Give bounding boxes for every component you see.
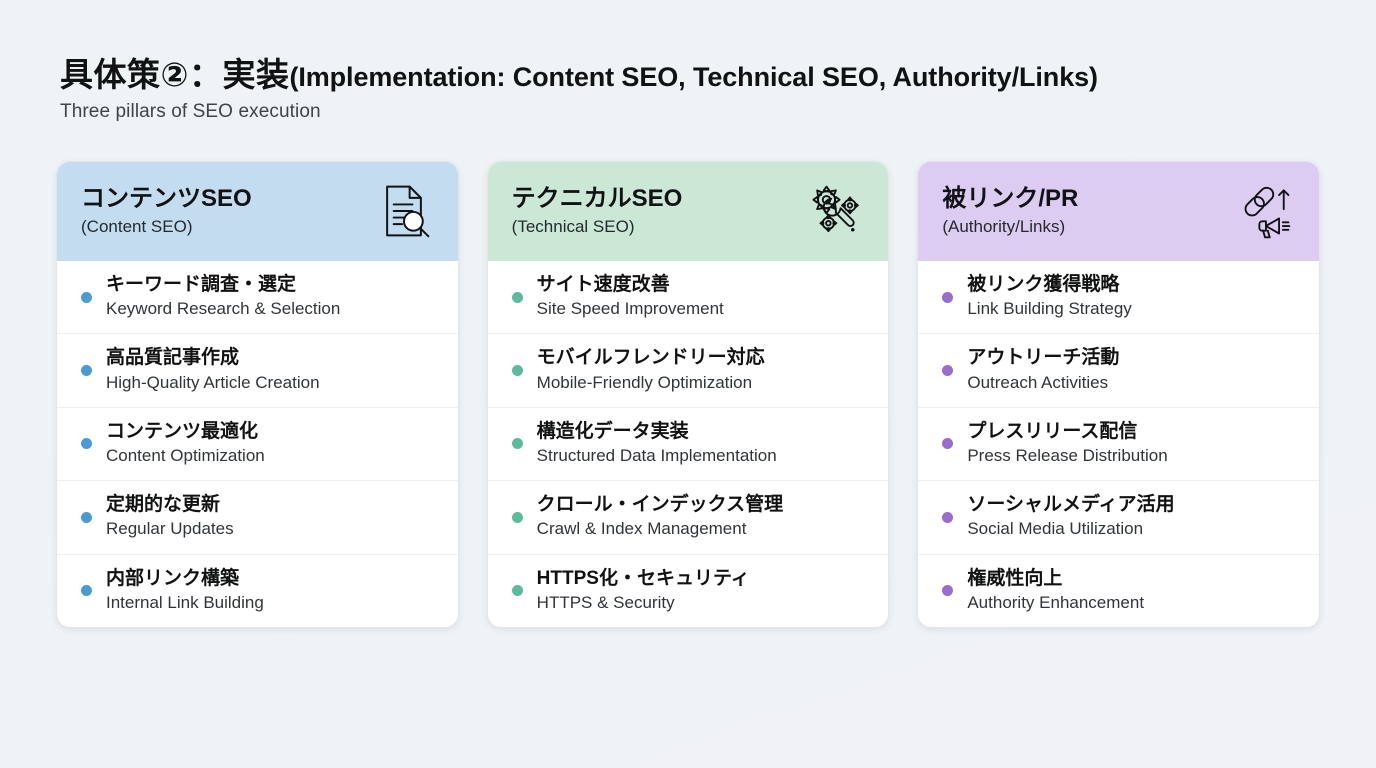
list-item-en: Crawl & Index Management (537, 518, 783, 540)
list-item-jp: サイト速度改善 (537, 274, 670, 295)
list-item-en: HTTPS & Security (537, 592, 750, 614)
card-content-seo: コンテンツSEO (Content SEO) (56, 161, 459, 628)
slide-header: 具体策②：実装(Implementation: Content SEO, Tec… (60, 56, 1320, 123)
card-header-authority-links: 被リンク/PR (Authority/Links) (918, 162, 1319, 261)
list-item-en: Internal Link Building (106, 592, 264, 614)
list-item-jp: 被リンク獲得戦略 (967, 274, 1119, 295)
list-item-jp: 権威性向上 (967, 568, 1062, 589)
page-title: 具体策②：実装(Implementation: Content SEO, Tec… (60, 56, 1320, 95)
bullet-icon (81, 292, 92, 303)
bullet-icon (81, 585, 92, 596)
list-item-text: アウトリーチ活動 Outreach Activities (967, 346, 1119, 393)
bullet-icon (81, 512, 92, 523)
list-item-jp: 内部リンク構築 (106, 568, 239, 589)
bullet-icon (81, 365, 92, 376)
document-search-icon (372, 179, 436, 243)
card-list-technical-seo: サイト速度改善 Site Speed Improvement モバイルフレンドリ… (488, 261, 889, 627)
bullet-icon (512, 292, 523, 303)
bullet-icon (942, 438, 953, 449)
list-item-en: Press Release Distribution (967, 445, 1167, 467)
list-item-text: ソーシャルメディア活用 Social Media Utilization (967, 493, 1174, 540)
list-item-en: Content Optimization (106, 445, 265, 467)
list-item-text: 高品質記事作成 High-Quality Article Creation (106, 346, 320, 393)
list-item-en: Keyword Research & Selection (106, 298, 340, 320)
list-item-text: キーワード調査・選定 Keyword Research & Selection (106, 273, 340, 320)
list-item-en: Link Building Strategy (967, 298, 1131, 320)
card-header-text: 被リンク/PR (Authority/Links) (942, 184, 1078, 237)
card-title-jp: 被リンク/PR (942, 184, 1078, 213)
list-item[interactable]: 内部リンク構築 Internal Link Building (57, 554, 458, 627)
card-title-en: (Authority/Links) (942, 216, 1078, 238)
list-item-en: Outreach Activities (967, 372, 1119, 394)
list-item-en: Structured Data Implementation (537, 445, 777, 467)
page-title-en: (Implementation: Content SEO, Technical … (289, 62, 1097, 92)
list-item[interactable]: プレスリリース配信 Press Release Distribution (918, 407, 1319, 480)
list-item[interactable]: ソーシャルメディア活用 Social Media Utilization (918, 480, 1319, 553)
list-item-jp: モバイルフレンドリー対応 (537, 347, 765, 368)
card-authority-links: 被リンク/PR (Authority/Links) (917, 161, 1320, 628)
list-item[interactable]: アウトリーチ活動 Outreach Activities (918, 333, 1319, 406)
list-item[interactable]: クロール・インデックス管理 Crawl & Index Management (488, 480, 889, 553)
list-item[interactable]: コンテンツ最適化 Content Optimization (57, 407, 458, 480)
card-list-content-seo: キーワード調査・選定 Keyword Research & Selection … (57, 261, 458, 627)
list-item[interactable]: 構造化データ実装 Structured Data Implementation (488, 407, 889, 480)
gears-wrench-icon (802, 179, 866, 243)
list-item-jp: コンテンツ最適化 (106, 421, 258, 442)
list-item-jp: 高品質記事作成 (106, 347, 239, 368)
page-title-jp: 具体策②：実装 (60, 56, 289, 93)
list-item-text: サイト速度改善 Site Speed Improvement (537, 273, 724, 320)
list-item[interactable]: 高品質記事作成 High-Quality Article Creation (57, 333, 458, 406)
card-title-jp: コンテンツSEO (81, 184, 252, 213)
bullet-icon (942, 585, 953, 596)
card-title-jp: テクニカルSEO (512, 184, 683, 213)
list-item-en: Authority Enhancement (967, 592, 1144, 614)
list-item-text: HTTPS化・セキュリティ HTTPS & Security (537, 567, 750, 614)
card-title-en: (Content SEO) (81, 216, 252, 238)
list-item[interactable]: モバイルフレンドリー対応 Mobile-Friendly Optimizatio… (488, 333, 889, 406)
list-item-jp: 定期的な更新 (106, 494, 220, 515)
card-header-technical-seo: テクニカルSEO (Technical SEO) (488, 162, 889, 261)
card-list-authority-links: 被リンク獲得戦略 Link Building Strategy アウトリーチ活動… (918, 261, 1319, 627)
bullet-icon (942, 292, 953, 303)
list-item-jp: プレスリリース配信 (967, 421, 1137, 442)
list-item-text: 被リンク獲得戦略 Link Building Strategy (967, 273, 1131, 320)
slide-root: 具体策②：実装(Implementation: Content SEO, Tec… (0, 0, 1376, 768)
list-item-en: High-Quality Article Creation (106, 372, 320, 394)
list-item-jp: HTTPS化・セキュリティ (537, 568, 750, 589)
list-item-text: 定期的な更新 Regular Updates (106, 493, 234, 540)
list-item-text: 内部リンク構築 Internal Link Building (106, 567, 264, 614)
list-item-text: コンテンツ最適化 Content Optimization (106, 420, 265, 467)
bullet-icon (81, 438, 92, 449)
list-item-text: クロール・インデックス管理 Crawl & Index Management (537, 493, 783, 540)
list-item-text: 構造化データ実装 Structured Data Implementation (537, 420, 777, 467)
chain-megaphone-icon (1233, 179, 1297, 243)
bullet-icon (512, 438, 523, 449)
list-item-jp: アウトリーチ活動 (967, 347, 1119, 368)
list-item[interactable]: キーワード調査・選定 Keyword Research & Selection (57, 261, 458, 333)
bullet-icon (942, 512, 953, 523)
list-item-jp: ソーシャルメディア活用 (967, 494, 1174, 515)
list-item-en: Mobile-Friendly Optimization (537, 372, 765, 394)
list-item[interactable]: HTTPS化・セキュリティ HTTPS & Security (488, 554, 889, 627)
bullet-icon (512, 585, 523, 596)
bullet-icon (512, 512, 523, 523)
card-header-text: テクニカルSEO (Technical SEO) (512, 184, 683, 237)
list-item-en: Regular Updates (106, 518, 234, 540)
list-item-jp: クロール・インデックス管理 (537, 494, 783, 515)
page-subtitle: Three pillars of SEO execution (60, 101, 1320, 123)
list-item-text: プレスリリース配信 Press Release Distribution (967, 420, 1167, 467)
list-item[interactable]: 権威性向上 Authority Enhancement (918, 554, 1319, 627)
list-item[interactable]: 定期的な更新 Regular Updates (57, 480, 458, 553)
list-item-jp: 構造化データ実装 (537, 421, 689, 442)
list-item-text: モバイルフレンドリー対応 Mobile-Friendly Optimizatio… (537, 346, 765, 393)
card-technical-seo: テクニカルSEO (Technical SEO) (487, 161, 890, 628)
list-item-en: Site Speed Improvement (537, 298, 724, 320)
bullet-icon (942, 365, 953, 376)
list-item[interactable]: サイト速度改善 Site Speed Improvement (488, 261, 889, 333)
list-item[interactable]: 被リンク獲得戦略 Link Building Strategy (918, 261, 1319, 333)
list-item-jp: キーワード調査・選定 (106, 274, 296, 295)
list-item-en: Social Media Utilization (967, 518, 1174, 540)
list-item-text: 権威性向上 Authority Enhancement (967, 567, 1144, 614)
card-header-text: コンテンツSEO (Content SEO) (81, 184, 252, 237)
card-title-en: (Technical SEO) (512, 216, 683, 238)
bullet-icon (512, 365, 523, 376)
pillar-columns: コンテンツSEO (Content SEO) (56, 161, 1320, 628)
card-header-content-seo: コンテンツSEO (Content SEO) (57, 162, 458, 261)
